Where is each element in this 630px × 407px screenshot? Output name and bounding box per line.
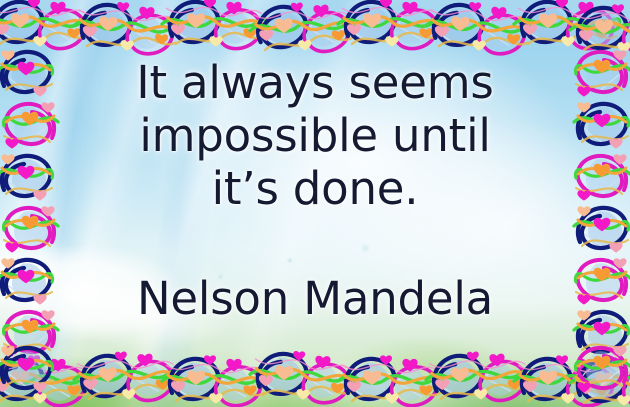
quote-poster: It always seems impossible until it’s do… [0,0,630,407]
watercolor-speckle [0,0,630,407]
